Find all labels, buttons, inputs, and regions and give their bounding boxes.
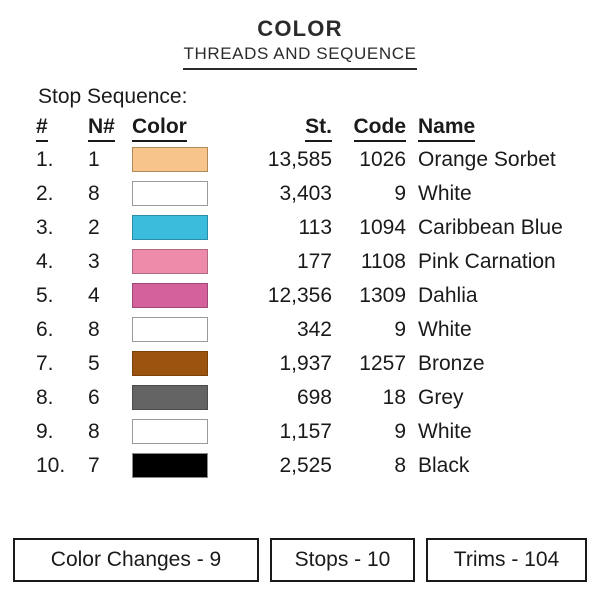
color-swatch (132, 249, 208, 274)
row-stitches: 342 (236, 313, 332, 347)
row-needle: 8 (88, 177, 132, 211)
color-changes-box: Color Changes - 9 (13, 538, 259, 582)
row-color-cell (132, 415, 236, 449)
row-stitches: 698 (236, 381, 332, 415)
row-code: 1309 (332, 279, 406, 313)
row-index: 1. (30, 143, 88, 177)
table-row: 2.83,4039White (30, 177, 563, 211)
row-needle: 7 (88, 449, 132, 483)
column-header-code: Code (332, 115, 406, 143)
row-name: Grey (406, 381, 563, 415)
row-code: 8 (332, 449, 406, 483)
column-header-index: # (30, 115, 88, 143)
color-swatch (132, 147, 208, 172)
row-index: 10. (30, 449, 88, 483)
table-row: 9.81,1579White (30, 415, 563, 449)
row-color-cell (132, 347, 236, 381)
row-index: 6. (30, 313, 88, 347)
row-stitches: 13,585 (236, 143, 332, 177)
row-needle: 4 (88, 279, 132, 313)
row-name: White (406, 177, 563, 211)
row-stitches: 1,157 (236, 415, 332, 449)
table-row: 1.113,5851026Orange Sorbet (30, 143, 563, 177)
row-needle: 2 (88, 211, 132, 245)
row-index: 5. (30, 279, 88, 313)
row-color-cell (132, 313, 236, 347)
row-index: 2. (30, 177, 88, 211)
column-header-color: Color (132, 115, 236, 143)
row-code: 1026 (332, 143, 406, 177)
row-color-cell (132, 211, 236, 245)
row-color-cell (132, 279, 236, 313)
table-row: 10.72,5258Black (30, 449, 563, 483)
row-needle: 8 (88, 415, 132, 449)
row-name: White (406, 415, 563, 449)
column-header-name: Name (406, 115, 563, 143)
row-index: 7. (30, 347, 88, 381)
trims-box: Trims - 104 (426, 538, 587, 582)
row-code: 1257 (332, 347, 406, 381)
color-swatch (132, 453, 208, 478)
row-code: 9 (332, 415, 406, 449)
row-name: Black (406, 449, 563, 483)
row-index: 9. (30, 415, 88, 449)
row-needle: 6 (88, 381, 132, 415)
color-sequence-table: # N# Color St. Code Name 1.113,5851026Or… (30, 115, 563, 483)
row-name: Caribbean Blue (406, 211, 563, 245)
color-swatch (132, 385, 208, 410)
table-row: 3.21131094Caribbean Blue (30, 211, 563, 245)
row-needle: 8 (88, 313, 132, 347)
page-header: COLOR THREADS AND SEQUENCE (0, 0, 600, 70)
stop-sequence-label: Stop Sequence: (38, 85, 600, 109)
row-needle: 5 (88, 347, 132, 381)
table-header-row: # N# Color St. Code Name (30, 115, 563, 143)
row-name: Pink Carnation (406, 245, 563, 279)
row-name: Bronze (406, 347, 563, 381)
color-swatch (132, 181, 208, 206)
row-stitches: 1,937 (236, 347, 332, 381)
row-stitches: 12,356 (236, 279, 332, 313)
row-code: 1094 (332, 211, 406, 245)
row-needle: 1 (88, 143, 132, 177)
page-subtitle: THREADS AND SEQUENCE (183, 44, 416, 64)
color-swatch (132, 317, 208, 342)
row-stitches: 113 (236, 211, 332, 245)
row-color-cell (132, 143, 236, 177)
table-row: 4.31771108Pink Carnation (30, 245, 563, 279)
page-title: COLOR (0, 17, 600, 41)
row-code: 18 (332, 381, 406, 415)
row-color-cell (132, 381, 236, 415)
table-row: 7.51,9371257Bronze (30, 347, 563, 381)
row-name: Orange Sorbet (406, 143, 563, 177)
table-row: 6.83429White (30, 313, 563, 347)
table-header: # N# Color St. Code Name (30, 115, 563, 143)
row-stitches: 2,525 (236, 449, 332, 483)
color-swatch (132, 283, 208, 308)
row-index: 8. (30, 381, 88, 415)
table-row: 8.669818Grey (30, 381, 563, 415)
row-color-cell (132, 449, 236, 483)
table-body: 1.113,5851026Orange Sorbet2.83,4039White… (30, 143, 563, 483)
color-swatch (132, 419, 208, 444)
summary-footer: Color Changes - 9 Stops - 10 Trims - 104 (13, 538, 587, 582)
table-row: 5.412,3561309Dahlia (30, 279, 563, 313)
row-code: 9 (332, 177, 406, 211)
color-swatch (132, 351, 208, 376)
stops-box: Stops - 10 (270, 538, 415, 582)
column-header-needle: N# (88, 115, 132, 143)
column-header-stitches: St. (236, 115, 332, 143)
row-code: 1108 (332, 245, 406, 279)
row-color-cell (132, 177, 236, 211)
row-needle: 3 (88, 245, 132, 279)
row-stitches: 177 (236, 245, 332, 279)
row-name: Dahlia (406, 279, 563, 313)
row-stitches: 3,403 (236, 177, 332, 211)
row-code: 9 (332, 313, 406, 347)
color-swatch (132, 215, 208, 240)
page-subtitle-underline: THREADS AND SEQUENCE (183, 44, 416, 70)
row-index: 4. (30, 245, 88, 279)
row-index: 3. (30, 211, 88, 245)
row-name: White (406, 313, 563, 347)
row-color-cell (132, 245, 236, 279)
